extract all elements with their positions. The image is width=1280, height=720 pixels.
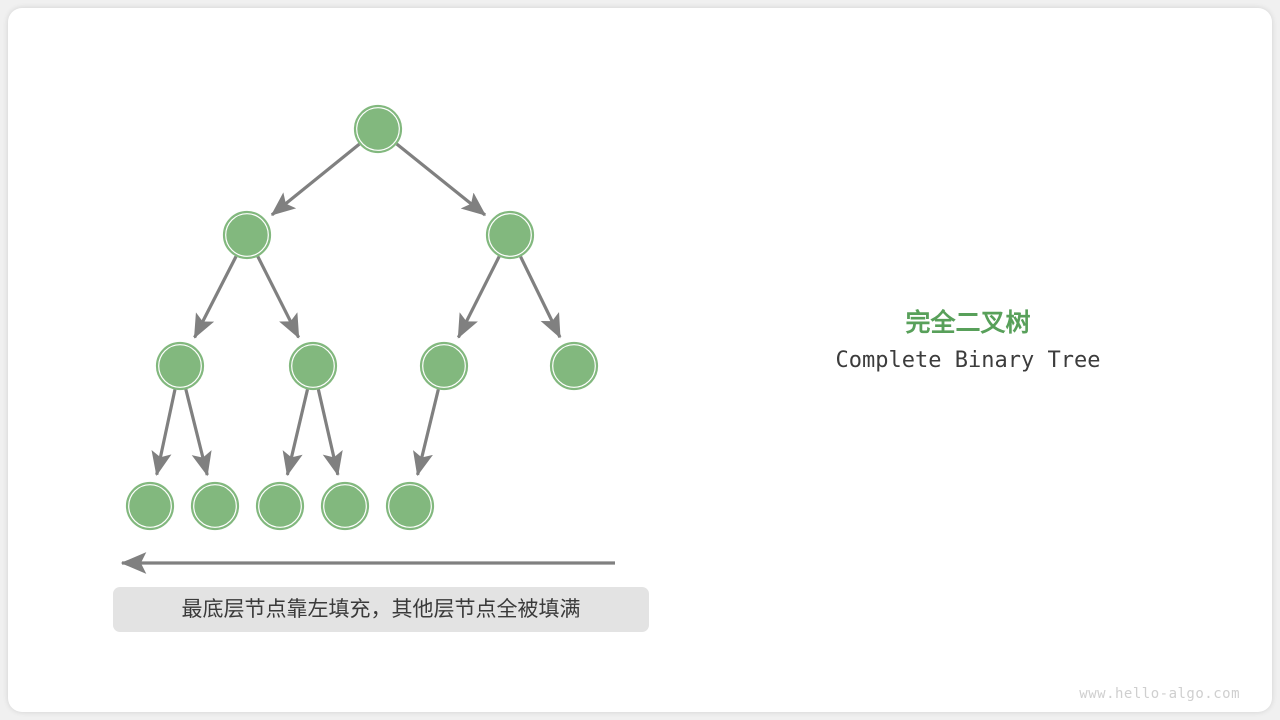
tree-node-inner-circle: [488, 213, 532, 257]
tree-node: [355, 106, 401, 152]
tree-node-inner-circle: [258, 484, 302, 528]
tree-node-inner-circle: [291, 344, 335, 388]
caption-bar: 最底层节点靠左填充，其他层节点全被填满: [113, 587, 649, 632]
tree-node: [127, 483, 173, 529]
tree-edge: [258, 256, 299, 337]
watermark: www.hello-algo.com: [1079, 686, 1240, 702]
tree-node-inner-circle: [225, 213, 269, 257]
tree-node: [157, 343, 203, 389]
tree-node-inner-circle: [323, 484, 367, 528]
tree-node: [257, 483, 303, 529]
tree-edge: [318, 389, 338, 474]
tree-edge: [272, 144, 359, 215]
tree-node-inner-circle: [422, 344, 466, 388]
tree-node: [421, 343, 467, 389]
tree-node: [551, 343, 597, 389]
tree-node-inner-circle: [356, 107, 400, 151]
tree-node: [487, 212, 533, 258]
tree-node-inner-circle: [193, 484, 237, 528]
tree-edge-layer: [157, 144, 560, 475]
tree-node: [322, 483, 368, 529]
tree-node: [387, 483, 433, 529]
legend-subtitle: Complete Binary Tree: [718, 348, 1218, 373]
tree-node: [224, 212, 270, 258]
tree-node: [290, 343, 336, 389]
caption-text: 最底层节点靠左填充，其他层节点全被填满: [113, 587, 649, 632]
tree-edge: [418, 389, 439, 475]
tree-edge: [521, 257, 560, 338]
tree-node-inner-circle: [552, 344, 596, 388]
tree-edge: [186, 389, 207, 475]
tree-edge: [287, 389, 307, 474]
tree-node-inner-circle: [128, 484, 172, 528]
tree-node-inner-circle: [158, 344, 202, 388]
tree-edge: [458, 256, 499, 337]
tree-edge: [157, 389, 175, 474]
tree-node: [192, 483, 238, 529]
tree-node-inner-circle: [388, 484, 432, 528]
diagram-page: 完全二叉树 Complete Binary Tree 最底层节点靠左填充，其他层…: [0, 0, 1280, 720]
tree-edge: [397, 144, 485, 215]
legend-title: 完全二叉树: [768, 303, 1168, 339]
tree-node-layer: [127, 106, 597, 529]
tree-edge: [195, 256, 237, 337]
